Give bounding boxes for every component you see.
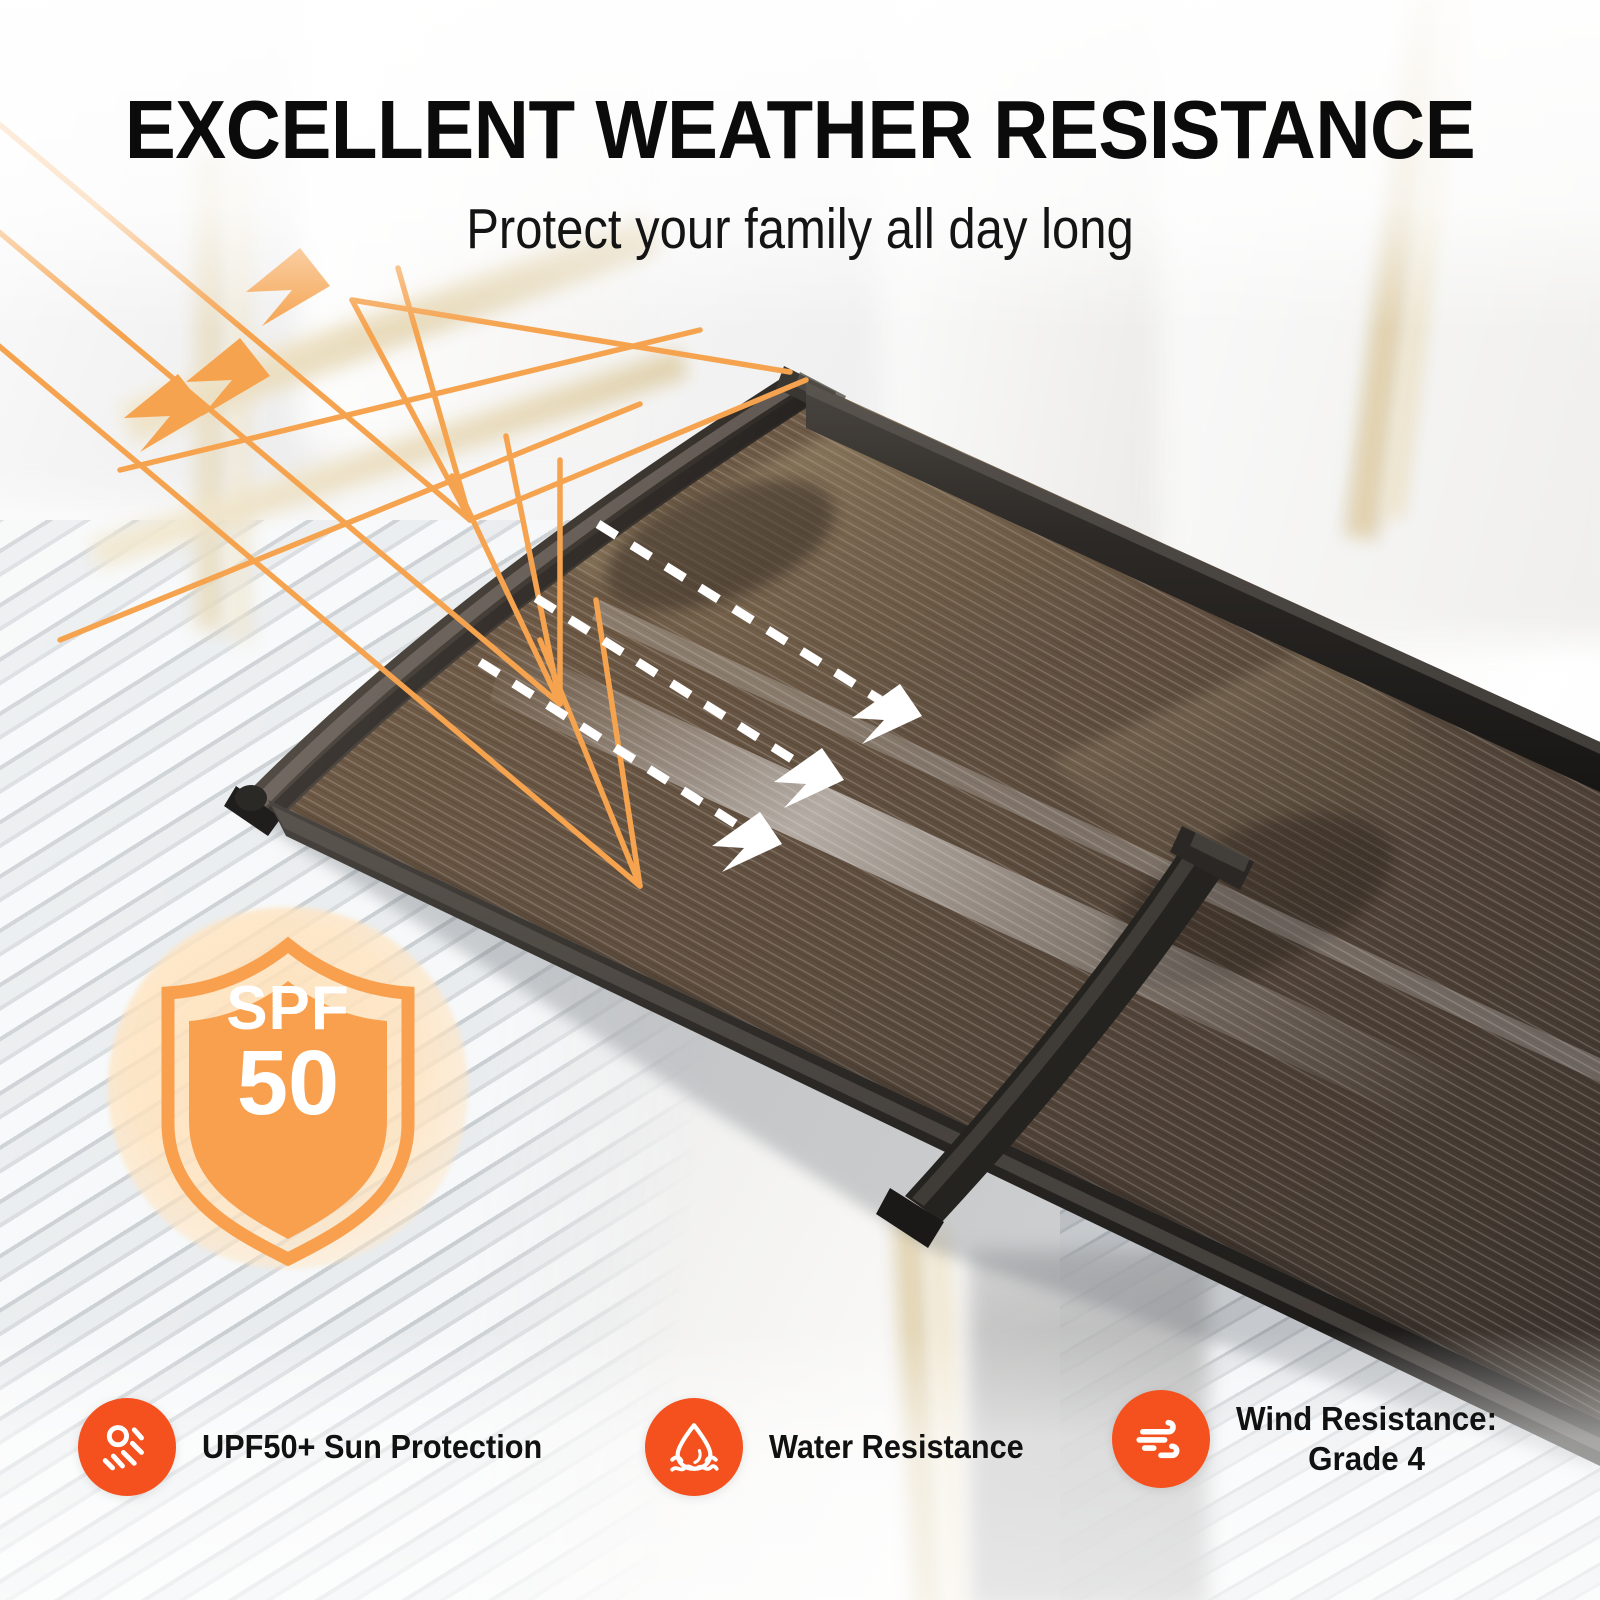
wind-icon <box>1132 1410 1190 1468</box>
feature-icon-badge <box>78 1398 176 1496</box>
product-marketing-banner: EXCELLENT WEATHER RESISTANCE Protect you… <box>0 0 1600 1600</box>
feature-icon-badge <box>645 1398 743 1496</box>
water-drop-icon <box>665 1418 723 1476</box>
sun-protection-icon <box>98 1418 156 1476</box>
feature-label: Wind Resistance: Grade 4 <box>1236 1399 1497 1480</box>
page-title: EXCELLENT WEATHER RESISTANCE <box>64 82 1536 178</box>
spf-badge: SPF 50 <box>108 895 468 1285</box>
shield-icon <box>108 895 468 1285</box>
feature-label: Water Resistance <box>769 1427 1024 1467</box>
feature-icon-badge <box>1112 1390 1210 1488</box>
feature-label: UPF50+ Sun Protection <box>202 1427 542 1467</box>
feature-item-sun-protection[interactable]: UPF50+ Sun Protection <box>78 1398 568 1496</box>
feature-list: UPF50+ Sun Protection Water Resistance <box>0 1398 1600 1548</box>
feature-item-water-resistance[interactable]: Water Resistance <box>645 1398 1043 1496</box>
page-subtitle: Protect your family all day long <box>112 196 1488 262</box>
feature-item-wind-resistance[interactable]: Wind Resistance: Grade 4 <box>1112 1390 1511 1488</box>
